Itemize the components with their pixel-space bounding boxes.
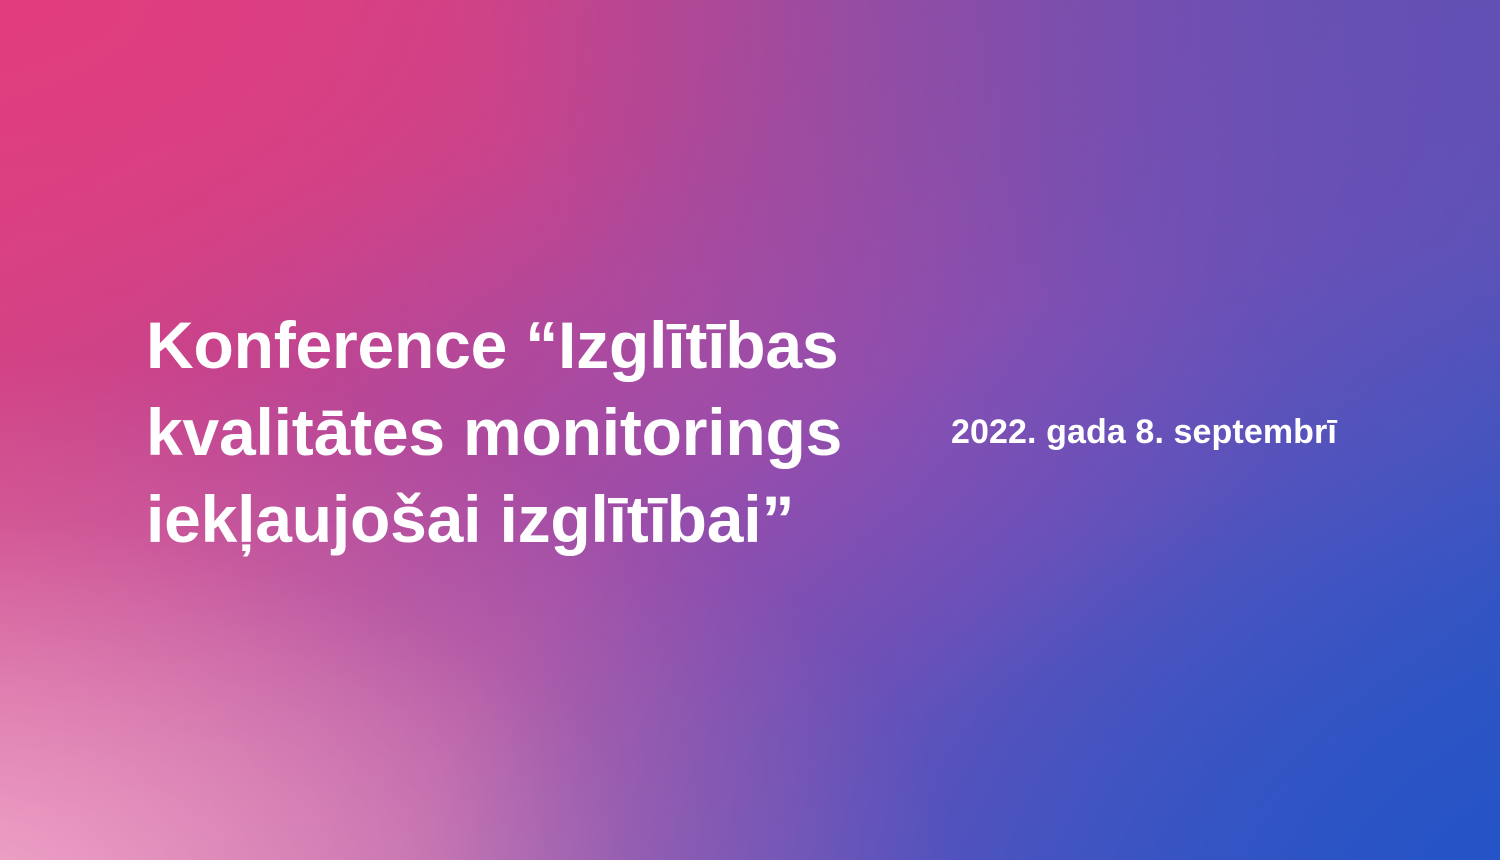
conference-title: Konference “Izglītības kvalitātes monito… [146, 302, 906, 563]
event-date: 2022. gada 8. septembrī [951, 408, 1337, 456]
conference-banner: Konference “Izglītības kvalitātes monito… [0, 0, 1500, 860]
banner-content: Konference “Izglītības kvalitātes monito… [0, 0, 1500, 860]
